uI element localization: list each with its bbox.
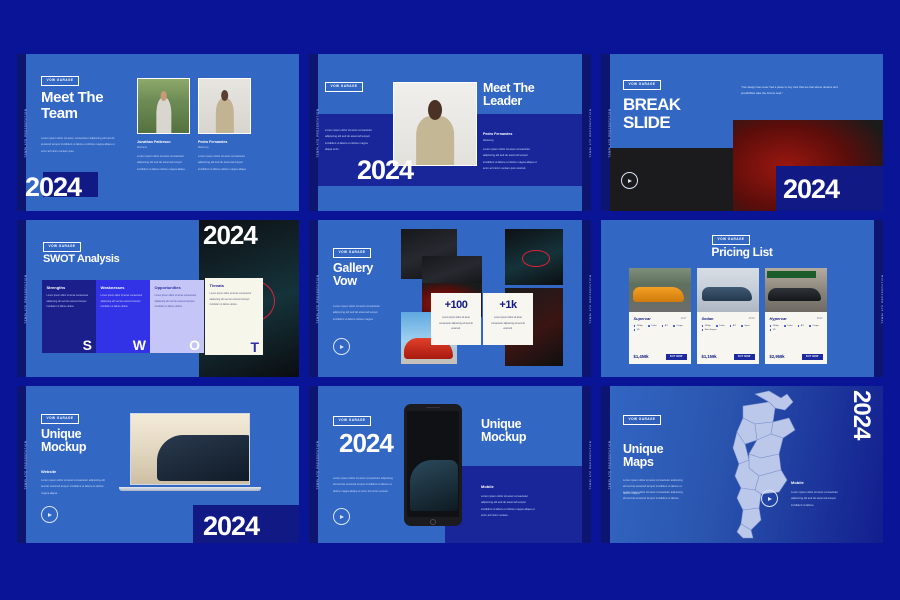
bullet-icon: [634, 325, 636, 327]
rail-label: TEMPLATE PRESENTATION: [590, 259, 592, 339]
bullet-icon: [702, 329, 704, 331]
brand-badge: VOW GARAGE: [41, 414, 79, 424]
price-card-body: Sedan 2019 200hp Turbo A/T Sport Nitro E…: [697, 312, 759, 364]
swot-card-weaknesses[interactable]: Weaknesses Lorem ipsum dolor sit amet co…: [96, 280, 150, 353]
slide-rail: TEMPLATE PRESENTATION: [17, 386, 26, 543]
stat-card: +100 Lorem ipsum dolor sit amet consecte…: [431, 293, 481, 345]
stat-caption: Lorem ipsum dolor sit amet consectetur a…: [437, 316, 476, 333]
sub-heading: Mobile: [791, 480, 804, 485]
rail-label: TEMPLATE PRESENTATION: [25, 425, 28, 505]
rail-label: TEMPLATE PRESENTATION: [317, 259, 320, 339]
year-label: 2024: [849, 390, 873, 439]
slide-pricing-list[interactable]: TEMPLATE PRESENTATION VOW GARAGE Pricing…: [601, 220, 883, 377]
brand-badge: VOW GARAGE: [41, 76, 79, 86]
slide-title: Unique Mockup: [41, 428, 86, 454]
slide-swot-analysis[interactable]: TEMPLATE PRESENTATION VOW GARAGE SWOT An…: [17, 220, 299, 377]
feature-item: 200hp: [634, 325, 643, 327]
stat-caption: Lorem ipsum dolor sit amet consectetur a…: [489, 316, 528, 333]
buy-now-button[interactable]: BUY NOW: [802, 354, 822, 360]
year-label: 2024: [783, 176, 839, 203]
slide-unique-mockup-mobile[interactable]: TEMPLATE PRESENTATION TEMPLATE PRESENTAT…: [309, 386, 591, 543]
rail-label: TEMPLATE PRESENTATION: [590, 425, 592, 505]
slide-body: Lorem ipsum dolor sit amet consectetur a…: [333, 304, 389, 323]
bullet-icon: [716, 325, 718, 327]
swot-body: Lorem ipsum dolor sit amet consectetur a…: [101, 293, 146, 310]
stat-card: +1k Lorem ipsum dolor sit amet consectet…: [483, 293, 533, 345]
feature-item: 200hp: [702, 325, 711, 327]
slide-rail-right: TEMPLATE PRESENTATION: [582, 386, 591, 543]
year-label: 2024: [339, 430, 393, 456]
slide-rail: TEMPLATE PRESENTATION: [309, 220, 318, 377]
member-name: Jonathan Patterson: [137, 140, 171, 144]
price-card-year: 2020: [817, 317, 823, 320]
price-card-footer: $1,159k BUY NOW: [702, 354, 755, 360]
price-card-supercar[interactable]: Supercar 2017 200hp Turbo A/T Coupe V8 $…: [629, 268, 691, 364]
phone-speaker: [426, 407, 440, 408]
slide-meet-the-leader[interactable]: TEMPLATE PRESENTATION TEMPLATE PRESENTAT…: [309, 54, 591, 211]
slide-title: BREAK SLIDE: [623, 96, 680, 131]
year-label: 2024: [203, 513, 259, 540]
swot-heading: Opportunities: [155, 285, 200, 290]
feature-item: Turbo: [784, 325, 793, 327]
laptop-screen: [130, 413, 250, 485]
slide-rail-right: TEMPLATE PRESENTATION: [874, 220, 883, 377]
feature-item: Nitro Engine: [702, 329, 717, 331]
buy-now-button[interactable]: BUY NOW: [734, 354, 754, 360]
bullet-icon: [702, 325, 704, 327]
slide-unique-mockup-website[interactable]: TEMPLATE PRESENTATION VOW GARAGE Unique …: [17, 386, 299, 543]
slide-body: Lorem ipsum dolor sit amet, consectetur …: [41, 136, 116, 155]
year-label: 2024: [203, 222, 257, 248]
stat-value: +100: [445, 300, 468, 311]
member-photo: [198, 78, 251, 134]
rail-label: TEMPLATE PRESENTATION: [317, 425, 320, 505]
feature-item: Coupe: [673, 325, 683, 327]
gallery-photo: [505, 229, 563, 285]
sub-heading: Website: [41, 469, 56, 474]
price-card-year: 2017: [681, 317, 687, 320]
argentina-map-icon: [709, 388, 819, 541]
play-icon[interactable]: [333, 338, 350, 355]
slide-rail: TEMPLATE PRESENTATION: [601, 386, 610, 543]
slide-body-left: Lorem ipsum dolor sit amet consectetur a…: [333, 476, 393, 495]
play-icon[interactable]: [621, 172, 638, 189]
slide-title: Unique Maps: [623, 443, 663, 469]
price-card-footer: $2,959k BUY NOW: [770, 354, 823, 360]
brand-badge: VOW GARAGE: [623, 415, 661, 425]
slide-deck-grid: TEMPLATE PRESENTATION VOW GARAGE Meet Th…: [0, 0, 900, 600]
feature-item: V8: [634, 329, 640, 331]
feature-item: Turbo: [716, 325, 725, 327]
swot-body: Lorem ipsum dolor sit amet consectetur a…: [210, 291, 259, 308]
slide-title: SWOT Analysis: [43, 254, 119, 265]
year-label: 2024: [357, 157, 413, 184]
slide-title: Pricing List: [601, 246, 883, 258]
bullet-icon: [673, 325, 675, 327]
slide-body-secondary: Lorem ipsum dolor sit amet consectetur a…: [623, 490, 683, 503]
leader-name: Pedro Fernandes: [483, 132, 512, 136]
brand-badge: VOW GARAGE: [325, 82, 363, 92]
sub-body: Lorem ipsum dolor sit amet consectetur a…: [791, 490, 841, 509]
slide-title: Unique Mockup: [481, 418, 526, 444]
play-icon[interactable]: [761, 490, 778, 507]
member-bio: Lorem ipsum dolor sit amet consectetur a…: [137, 154, 190, 173]
swot-letter: O: [189, 338, 200, 352]
price-card-photo: [697, 268, 759, 312]
bullet-icon: [648, 325, 650, 327]
bullet-icon: [770, 329, 772, 331]
bullet-icon: [730, 325, 732, 327]
shop-sign: [767, 271, 815, 278]
laptop-mockup: [130, 413, 250, 491]
slide-body: Lorem ipsum dolor sit amet consectetur a…: [41, 478, 105, 497]
bullet-icon: [784, 325, 786, 327]
price-card-hypercar[interactable]: Hypercar 2020 200hp Turbo A/T Coupe V8 $…: [765, 268, 827, 364]
slide-rail: TEMPLATE PRESENTATION: [601, 54, 610, 211]
quote-text: "Car design has never had a place to buy…: [741, 84, 839, 96]
swot-letter: W: [133, 338, 146, 352]
slide-rail-right: TEMPLATE PRESENTATION: [582, 54, 591, 211]
price-value: $1,459k: [634, 354, 649, 359]
price-card-footer: $1,459k BUY NOW: [634, 354, 687, 360]
brand-badge: VOW GARAGE: [43, 242, 81, 252]
swot-card-strengths[interactable]: Strengths Lorem ipsum dolor sit amet con…: [42, 280, 96, 353]
feature-item: Turbo: [648, 325, 657, 327]
member-bio: Lorem ipsum dolor sit amet consectetur a…: [198, 154, 251, 173]
feature-item: A/T: [798, 325, 805, 327]
rail-label: TEMPLATE PRESENTATION: [25, 259, 28, 339]
swot-heading: Strengths: [47, 285, 92, 290]
brand-badge: VOW GARAGE: [333, 248, 371, 258]
member-name: Pedro Fernandes: [198, 140, 227, 144]
brand-badge: VOW GARAGE: [333, 416, 371, 426]
price-card-year: 2019: [749, 317, 755, 320]
slide-unique-maps[interactable]: TEMPLATE PRESENTATION: [601, 386, 883, 543]
swot-letter: T: [250, 340, 259, 354]
play-icon[interactable]: [333, 508, 350, 525]
rail-label: TEMPLATE PRESENTATION: [609, 425, 612, 505]
bullet-icon: [741, 325, 743, 327]
slide-meet-the-team[interactable]: TEMPLATE PRESENTATION VOW GARAGE Meet Th…: [17, 54, 299, 211]
price-card-body: Supercar 2017 200hp Turbo A/T Coupe V8 $…: [629, 312, 691, 364]
price-card-photo: [629, 268, 691, 312]
swot-card-opportunities[interactable]: Opportunities Lorem ipsum dolor sit amet…: [150, 280, 204, 353]
member-photo: [137, 78, 190, 134]
slide-gallery-vow[interactable]: TEMPLATE PRESENTATION TEMPLATE PRESENTAT…: [309, 220, 591, 377]
feature-item: 200hp: [770, 325, 779, 327]
price-card-photo: [765, 268, 827, 312]
slide-rail-right: TEMPLATE PRESENTATION: [582, 220, 591, 377]
buy-now-button[interactable]: BUY NOW: [666, 354, 686, 360]
slide-title: Gallery Vow: [333, 262, 373, 288]
swot-card-threats[interactable]: Threats Lorem ipsum dolor sit amet conse…: [205, 278, 263, 355]
feature-item: A/T: [730, 325, 737, 327]
price-card-sedan[interactable]: Sedan 2019 200hp Turbo A/T Sport Nitro E…: [697, 268, 759, 364]
member-role: Mechanic: [137, 146, 147, 149]
feature-item: Coupe: [809, 325, 819, 327]
leader-role: Marketing: [483, 139, 494, 142]
price-card-features: 200hp Turbo A/T Sport Nitro Engine: [702, 325, 755, 331]
stat-value: +1k: [499, 300, 516, 311]
swot-body: Lorem ipsum dolor sit amet consectetur a…: [47, 293, 92, 310]
bullet-icon: [634, 329, 636, 331]
price-value: $1,159k: [702, 354, 717, 359]
price-card-name: Supercar: [634, 316, 687, 321]
price-card-name: Hypercar: [770, 316, 823, 321]
year-label: 2024: [25, 174, 81, 201]
price-card-body: Hypercar 2020 200hp Turbo A/T Coupe V8 $…: [765, 312, 827, 364]
price-card-name: Sedan: [702, 316, 755, 321]
rail-label: TEMPLATE PRESENTATION: [317, 93, 320, 173]
play-icon[interactable]: [41, 506, 58, 523]
brand-badge: VOW GARAGE: [712, 235, 750, 245]
rail-label: TEMPLATE PRESENTATION: [590, 93, 592, 173]
swot-heading: Weaknesses: [101, 285, 146, 290]
price-card-features: 200hp Turbo A/T Coupe V8: [634, 325, 687, 331]
slide-body: Lorem ipsum dolor sit amet consectetur a…: [325, 128, 373, 153]
price-value: $2,959k: [770, 354, 785, 359]
feature-item: A/T: [662, 325, 669, 327]
home-button-icon: [430, 519, 436, 525]
slide-body: Lorem ipsum dolor sit amet consectetur a…: [481, 494, 537, 519]
bullet-icon: [809, 325, 811, 327]
leader-photo: [393, 82, 477, 166]
rail-label: TEMPLATE PRESENTATION: [609, 93, 612, 173]
swot-body: Lorem ipsum dolor sit amet consectetur a…: [155, 293, 200, 310]
laptop-base: [119, 487, 261, 491]
slide-rail: TEMPLATE PRESENTATION: [309, 54, 318, 211]
phone-screen: [407, 411, 459, 517]
rail-label: TEMPLATE PRESENTATION: [25, 93, 28, 173]
map-graphic: [709, 388, 819, 541]
swot-letter: S: [83, 338, 92, 352]
price-card-features: 200hp Turbo A/T Coupe V8: [770, 325, 823, 331]
swot-heading: Threats: [210, 283, 259, 288]
bullet-icon: [798, 325, 800, 327]
phone-mockup: [404, 404, 462, 526]
leader-bio: Lorem ipsum dolor sit amet consectetur a…: [483, 147, 539, 172]
slide-title: Meet The Team: [41, 90, 103, 121]
member-role: Marketing: [198, 146, 209, 149]
rail-label: TEMPLATE PRESENTATION: [882, 259, 884, 339]
feature-item: Sport: [741, 325, 749, 327]
slide-break[interactable]: TEMPLATE PRESENTATION VOW GARAGE BREAK S…: [601, 54, 883, 211]
slide-title: Meet The Leader: [483, 82, 534, 108]
slide-rail: TEMPLATE PRESENTATION: [309, 386, 318, 543]
sub-heading: Mobile: [481, 484, 494, 489]
bullet-icon: [770, 325, 772, 327]
feature-item: V8: [770, 329, 776, 331]
brand-badge: VOW GARAGE: [623, 80, 661, 90]
bullet-icon: [662, 325, 664, 327]
slide-rail: TEMPLATE PRESENTATION: [17, 220, 26, 377]
